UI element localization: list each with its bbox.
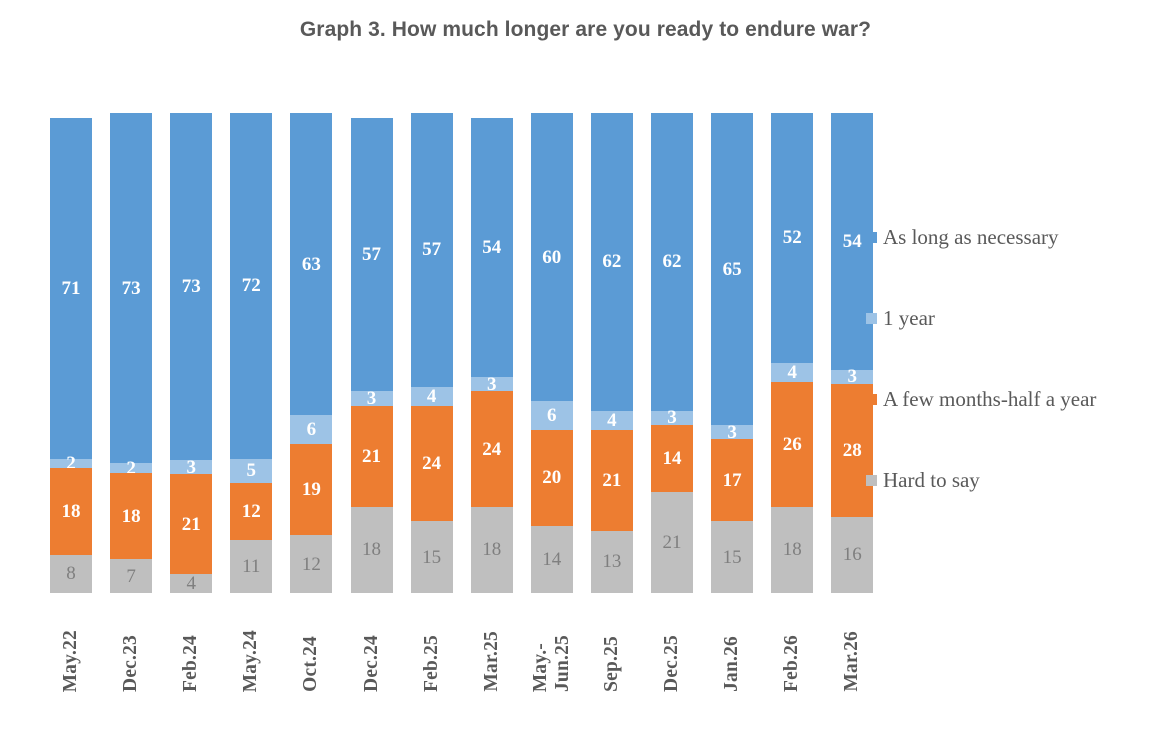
legend-swatch-icon — [866, 394, 877, 405]
bar-segment[interactable]: 3 — [651, 411, 693, 425]
bar-segment[interactable]: 2 — [50, 459, 92, 469]
bar-value-label: 72 — [242, 276, 261, 295]
bar-value-label: 54 — [482, 238, 501, 257]
bar-segment[interactable]: 18 — [110, 473, 152, 559]
bar-segment[interactable]: 72 — [230, 113, 272, 459]
bar-value-label: 18 — [783, 540, 802, 559]
bar-segment[interactable]: 63 — [290, 113, 332, 415]
bar-value-label: 16 — [843, 545, 862, 564]
bar-segment[interactable]: 60 — [531, 113, 573, 401]
bar-segment[interactable]: 13 — [591, 531, 633, 593]
bar-segment[interactable]: 3 — [351, 391, 393, 405]
bar-value-label: 15 — [723, 548, 742, 567]
bar-value-label: 57 — [362, 245, 381, 264]
bar-segment[interactable]: 8 — [50, 555, 92, 593]
bar-value-label: 57 — [422, 240, 441, 259]
x-axis-tick-label: Dec.25 — [651, 596, 693, 692]
bar-segment[interactable]: 62 — [651, 113, 693, 411]
plot-area: 7121887321877332147251211636191257321185… — [50, 113, 832, 593]
bar-segment[interactable]: 4 — [591, 411, 633, 430]
bar-column[interactable]: 733214 — [170, 113, 212, 593]
legend-item[interactable]: As long as necessary — [866, 228, 1166, 246]
legend-swatch-icon — [866, 313, 877, 324]
x-axis-tick-line: Oct.24 — [300, 636, 322, 692]
bar-column[interactable]: 6242113 — [591, 113, 633, 593]
bar-segment[interactable]: 54 — [471, 118, 513, 377]
bar-value-label: 21 — [663, 533, 682, 552]
bar-value-label: 73 — [122, 279, 141, 298]
bar-value-label: 20 — [542, 468, 561, 487]
bar-column[interactable]: 7251211 — [230, 113, 272, 593]
bar-value-label: 21 — [362, 447, 381, 466]
legend-swatch-icon — [866, 475, 877, 486]
x-axis-tick-label: Oct.24 — [290, 596, 332, 692]
bar-value-label: 13 — [602, 552, 621, 571]
bar-value-label: 62 — [602, 252, 621, 271]
legend-label: 1 year — [883, 306, 935, 331]
bar-column[interactable]: 6231421 — [651, 113, 693, 593]
bar-value-label: 60 — [542, 248, 561, 267]
bar-segment[interactable]: 65 — [711, 113, 753, 425]
bar-value-label: 21 — [182, 515, 201, 534]
bar-segment[interactable]: 57 — [351, 118, 393, 392]
legend-item[interactable]: Hard to say — [866, 471, 1166, 489]
bar-column[interactable]: 5742415 — [411, 113, 453, 593]
bar-segment[interactable]: 12 — [290, 535, 332, 593]
bar-segment[interactable]: 73 — [170, 113, 212, 460]
bar-value-label: 4 — [787, 363, 797, 382]
x-axis-tick-label: Dec.24 — [351, 596, 393, 692]
x-axis-tick-label: May.22 — [50, 596, 92, 692]
bar-value-label: 11 — [242, 557, 260, 576]
bar-value-label: 71 — [62, 279, 81, 298]
bar-segment[interactable]: 62 — [591, 113, 633, 411]
bar-value-label: 24 — [482, 440, 501, 459]
bar-value-label: 17 — [723, 471, 742, 490]
x-axis-tick-line: Sep.25 — [601, 636, 623, 692]
bar-segment[interactable]: 6 — [290, 415, 332, 444]
bar-segment[interactable]: 19 — [290, 444, 332, 535]
bar-column[interactable]: 5732118 — [351, 113, 393, 593]
bar-segment[interactable]: 73 — [110, 113, 152, 463]
legend-item[interactable]: A few months-half a year — [866, 390, 1166, 408]
bar-segment[interactable]: 11 — [230, 540, 272, 593]
chart-title: Graph 3. How much longer are you ready t… — [0, 18, 1171, 42]
bar-segment[interactable]: 21 — [170, 474, 212, 574]
bar-segment[interactable]: 17 — [711, 439, 753, 521]
bar-value-label: 65 — [723, 260, 742, 279]
x-axis-tick-line: May.22 — [60, 630, 82, 692]
bar-segment[interactable]: 4 — [771, 363, 813, 382]
bar-value-label: 62 — [663, 252, 682, 271]
bar-value-label: 7 — [126, 567, 136, 586]
bar-segment[interactable]: 71 — [50, 118, 92, 459]
bar-value-label: 19 — [302, 480, 321, 499]
bar-segment[interactable]: 2 — [110, 463, 152, 473]
x-axis-tick-line: Mar.26 — [841, 631, 863, 692]
bar-segment[interactable]: 52 — [771, 113, 813, 363]
x-axis-tick-line: Dec.24 — [361, 635, 383, 692]
x-axis-labels: May.22Dec.23Feb.24May.24Oct.24Dec.24Feb.… — [50, 596, 832, 696]
bar-segment[interactable]: 20 — [531, 430, 573, 526]
bar-segment[interactable]: 24 — [411, 406, 453, 521]
bar-value-label: 18 — [362, 540, 381, 559]
bar-value-label: 6 — [547, 406, 557, 425]
x-axis-tick-line: Dec.23 — [120, 635, 142, 692]
bar-value-label: 6 — [307, 420, 317, 439]
x-axis-tick-line: May.24 — [240, 630, 262, 692]
bar-value-label: 73 — [182, 277, 201, 296]
x-axis-tick-line: Feb.26 — [781, 635, 803, 692]
x-axis-tick-label: Dec.23 — [110, 596, 152, 692]
bar-segment[interactable]: 14 — [651, 425, 693, 492]
x-axis-tick-label: Mar.26 — [831, 596, 873, 692]
legend-label: A few months-half a year — [883, 387, 1096, 412]
bar-column[interactable]: 732187 — [110, 113, 152, 593]
bar-segment[interactable]: 3 — [170, 460, 212, 474]
x-axis-tick-label: Jan.26 — [711, 596, 753, 692]
x-axis-tick-line: Feb.24 — [180, 635, 202, 692]
x-axis-tick-label: Mar.25 — [471, 596, 513, 692]
bar-value-label: 12 — [302, 555, 321, 574]
bar-segment[interactable]: 57 — [411, 113, 453, 387]
bar-segment[interactable]: 18 — [471, 507, 513, 593]
bar-segment[interactable]: 15 — [711, 521, 753, 593]
bar-column[interactable]: 5242618 — [771, 113, 813, 593]
bar-segment[interactable]: 18 — [771, 507, 813, 593]
x-axis-tick-label: Feb.24 — [170, 596, 212, 692]
bar-segment[interactable]: 14 — [531, 526, 573, 593]
bar-value-label: 14 — [542, 550, 561, 569]
bar-value-label: 18 — [122, 507, 141, 526]
x-axis-tick-line: Jan.26 — [721, 636, 743, 692]
bar-value-label: 5 — [247, 461, 257, 480]
bar-column[interactable]: 712188 — [50, 113, 92, 593]
x-axis-tick-label: May.-Jun.25 — [531, 596, 573, 692]
bar-segment[interactable]: 21 — [651, 492, 693, 593]
chart-legend: As long as necessary1 yearA few months-h… — [866, 228, 1166, 552]
x-axis-tick-line: Feb.25 — [421, 635, 443, 692]
x-axis-tick-label: Feb.26 — [771, 596, 813, 692]
bar-segment[interactable]: 3 — [711, 425, 753, 439]
bar-value-label: 24 — [422, 454, 441, 473]
bar-segment[interactable]: 5 — [230, 459, 272, 483]
bar-column[interactable]: 5432418 — [471, 113, 513, 593]
bar-value-label: 4 — [607, 411, 617, 430]
bar-column[interactable]: 6531715 — [711, 113, 753, 593]
x-axis-tick-label: Sep.25 — [591, 596, 633, 692]
bar-segment[interactable]: 6 — [531, 401, 573, 430]
bar-segment[interactable]: 7 — [110, 559, 152, 593]
bar-segment[interactable]: 4 — [411, 387, 453, 406]
legend-item[interactable]: 1 year — [866, 309, 1166, 327]
bar-value-label: 28 — [843, 441, 862, 460]
bar-value-label: 26 — [783, 435, 802, 454]
x-axis-tick-line: Dec.25 — [661, 635, 683, 692]
bar-value-label: 21 — [602, 471, 621, 490]
x-axis-tick-label: May.24 — [230, 596, 272, 692]
bar-value-label: 4 — [427, 387, 437, 406]
legend-label: As long as necessary — [883, 225, 1059, 250]
x-axis-tick-line: Jun.25 — [552, 635, 574, 692]
bar-value-label: 63 — [302, 255, 321, 274]
bar-segment[interactable]: 15 — [411, 521, 453, 593]
bar-segment[interactable]: 3 — [471, 377, 513, 391]
bar-column[interactable]: 6361912 — [290, 113, 332, 593]
bar-segment[interactable]: 21 — [351, 406, 393, 507]
legend-swatch-icon — [866, 232, 877, 243]
bar-value-label: 15 — [422, 548, 441, 567]
bar-segment[interactable]: 12 — [230, 483, 272, 541]
legend-label: Hard to say — [883, 468, 980, 493]
bar-value-label: 18 — [62, 502, 81, 521]
bar-value-label: 18 — [482, 540, 501, 559]
bar-segment[interactable]: 18 — [50, 468, 92, 554]
bar-segment[interactable]: 24 — [471, 391, 513, 506]
bar-segment[interactable]: 18 — [351, 507, 393, 593]
bar-value-label: 54 — [843, 232, 862, 251]
x-axis-tick-line: May.- — [530, 643, 552, 692]
bar-value-label: 4 — [186, 574, 196, 593]
bar-column[interactable]: 6062014 — [531, 113, 573, 593]
bar-value-label: 14 — [663, 449, 682, 468]
bar-value-label: 12 — [242, 502, 261, 521]
bar-value-label: 52 — [783, 228, 802, 247]
x-axis-tick-line: Mar.25 — [481, 631, 503, 692]
bar-segment[interactable]: 21 — [591, 430, 633, 531]
x-axis-tick-label: Feb.25 — [411, 596, 453, 692]
bar-segment[interactable]: 4 — [170, 574, 212, 593]
bar-segment[interactable]: 26 — [771, 382, 813, 507]
bar-value-label: 8 — [66, 564, 76, 583]
